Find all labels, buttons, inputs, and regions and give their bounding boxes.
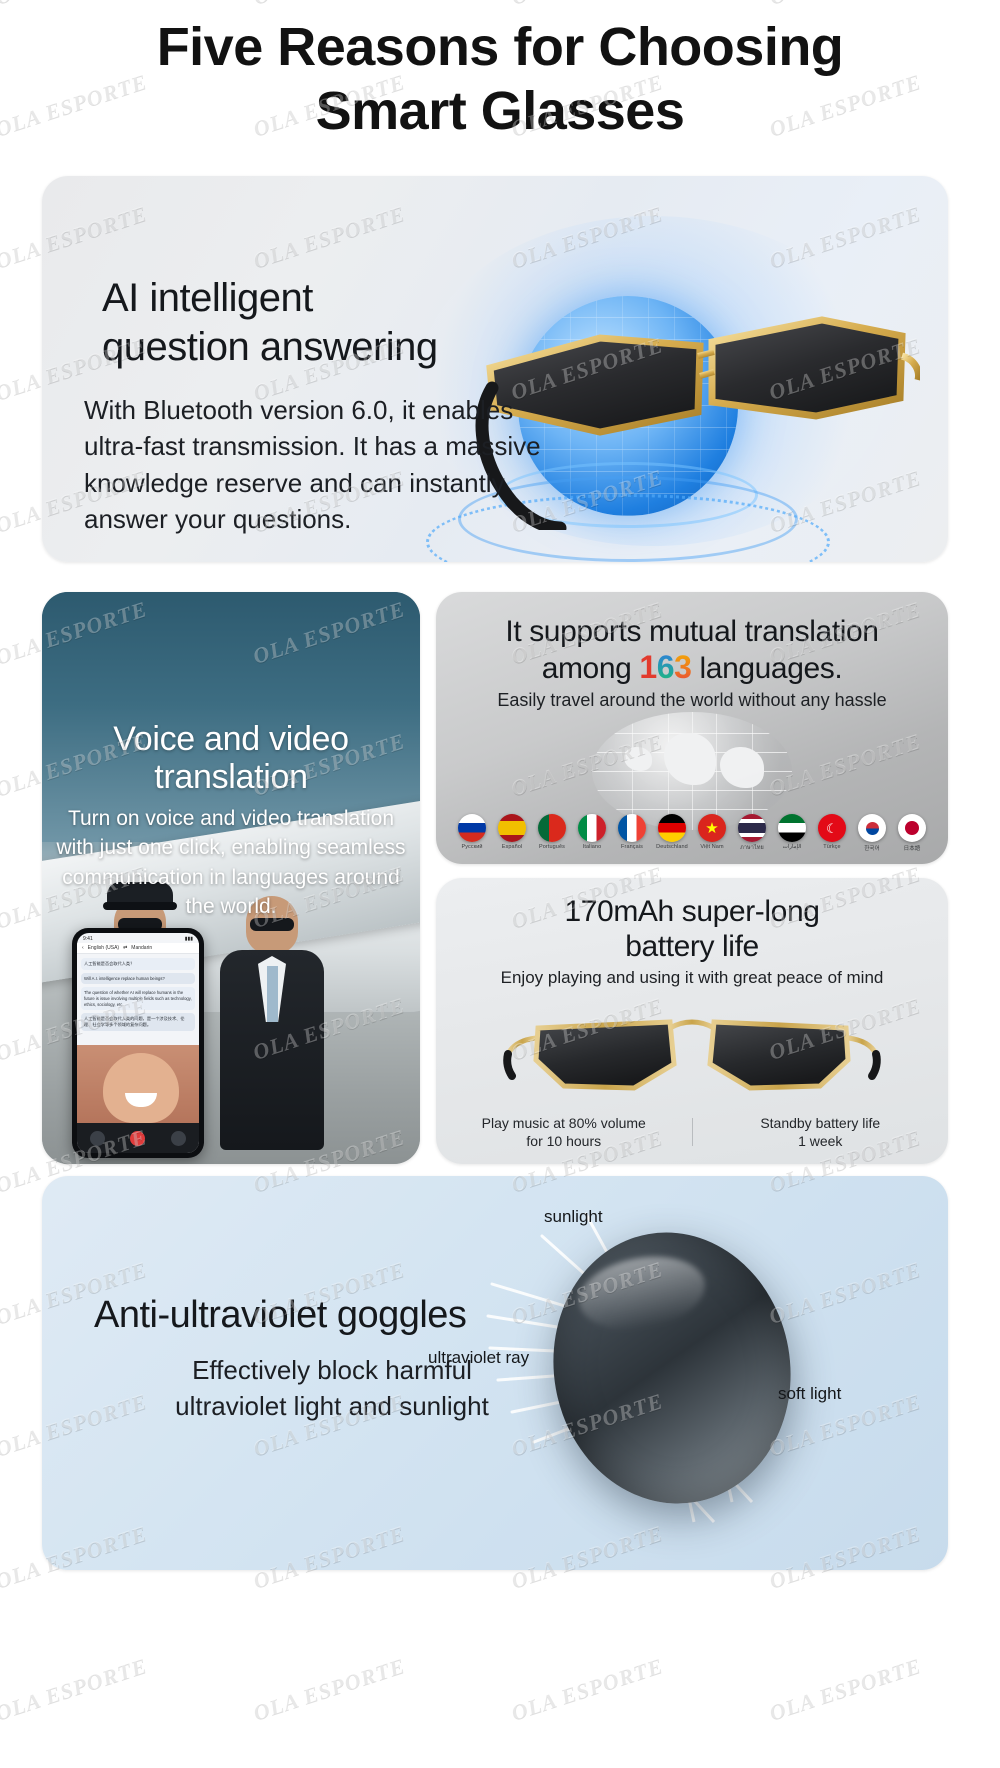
flag-jp-icon xyxy=(898,814,926,842)
flag-item: Français xyxy=(616,814,648,852)
watermark-text: OLA ESPORTE xyxy=(0,1652,150,1726)
flag-label: Deutschland xyxy=(656,844,688,850)
flag-label: Português xyxy=(536,844,568,850)
battery-heading: 170mAh super-long battery life xyxy=(436,894,948,965)
flag-item: 한국어 xyxy=(856,814,888,852)
flag-item: Deutschland xyxy=(656,814,688,852)
watermark-text: OLA ESPORTE xyxy=(766,0,925,10)
phone-language-bar[interactable]: ‹ English (USA) ⇄ Mandarin xyxy=(77,943,199,954)
language-count: 163 xyxy=(639,649,691,685)
swap-icon[interactable]: ⇄ xyxy=(123,945,127,951)
businessman-suit xyxy=(220,950,324,1150)
battery-subtitle: Enjoy playing and using it with great pe… xyxy=(436,968,948,988)
card-anti-ultraviolet: Anti-ultraviolet goggles Effectively blo… xyxy=(42,1176,948,1570)
chat-message: The question of whether AI will replace … xyxy=(81,987,195,1010)
caller-face xyxy=(103,1053,179,1123)
flag-label: Türkçe xyxy=(816,844,848,850)
watermark-text: OLA ESPORTE xyxy=(508,1652,667,1726)
languages-heading-line-1: It supports mutual translation xyxy=(436,614,948,649)
flag-item: ภาษาไทย xyxy=(736,814,768,852)
card-voice-video-translation: 9:41 ▮▮▮ ‹ English (USA) ⇄ Mandarin 人工智能… xyxy=(42,592,420,1164)
ai-body-text: With Bluetooth version 6.0, it enables u… xyxy=(84,392,554,538)
flag-list: Русский Español Português Italiano Franç… xyxy=(436,814,948,852)
chat-message: Will A.I. intelligence replace human bei… xyxy=(81,973,195,985)
watermark-text: OLA ESPORTE xyxy=(0,0,150,10)
call-controls[interactable] xyxy=(77,1123,199,1153)
flag-kr-icon xyxy=(858,814,886,842)
flag-label: 한국어 xyxy=(856,844,888,852)
sunglasses-front-image xyxy=(502,998,882,1108)
card-battery-life: 170mAh super-long battery life Enjoy pla… xyxy=(436,878,948,1164)
flag-item: Español xyxy=(496,814,528,852)
phone-status-bar: 9:41 ▮▮▮ xyxy=(77,933,199,943)
stat-standby-line-1: Standby battery life xyxy=(693,1114,949,1132)
flag-label: Русский xyxy=(456,844,488,850)
languages-subtitle: Easily travel around the world without a… xyxy=(436,690,948,711)
page-title: Five Reasons for Choosing Smart Glasses xyxy=(0,16,1000,143)
flag-label: الإمارات xyxy=(776,844,808,850)
microphone-icon[interactable] xyxy=(90,1131,105,1146)
flag-es-icon xyxy=(498,814,526,842)
flag-item: Português xyxy=(536,814,568,852)
flag-tr-icon: ☾ xyxy=(818,814,846,842)
flag-ru-icon xyxy=(458,814,486,842)
chat-message: 人工智能是否会取代人类？ xyxy=(81,958,195,970)
languages-suffix-label: languages. xyxy=(700,652,843,685)
battery-stat-playback: Play music at 80% volume for 10 hours xyxy=(436,1114,692,1150)
flag-ae-icon xyxy=(778,814,806,842)
translation-body-text: Turn on voice and video translation with… xyxy=(50,804,412,922)
person-businessman xyxy=(220,896,324,1150)
speaker-icon[interactable] xyxy=(171,1131,186,1146)
stat-playback-line-1: Play music at 80% volume xyxy=(436,1114,692,1132)
ai-heading-line-1: AI intelligent xyxy=(102,274,572,323)
flag-item: Italiano xyxy=(576,814,608,852)
card-ai-question-answering: AI AI intelligent question answering Wit… xyxy=(42,176,948,562)
video-call-preview xyxy=(77,1045,199,1123)
phone-chat-list: 人工智能是否会取代人类？ Will A.I. intelligence repl… xyxy=(77,954,199,1038)
language-to-label: Mandarin xyxy=(131,945,152,951)
watermark-text: OLA ESPORTE xyxy=(250,0,409,10)
watermark-text: OLA ESPORTE xyxy=(250,1652,409,1726)
flag-item: Русский xyxy=(456,814,488,852)
flag-label: Español xyxy=(496,844,528,850)
globe-graphic xyxy=(592,712,792,830)
back-chevron-icon[interactable]: ‹ xyxy=(82,945,84,951)
card-163-languages: It supports mutual translation among 163… xyxy=(436,592,948,864)
page-title-line-1: Five Reasons for Choosing xyxy=(0,16,1000,80)
flag-item: 日本語 xyxy=(896,814,928,852)
translation-heading-line-1: Voice and video xyxy=(42,720,420,758)
flag-label: Việt Nam xyxy=(696,844,728,850)
flag-item: الإمارات xyxy=(776,814,808,852)
translation-heading-line-2: translation xyxy=(42,758,420,796)
flag-it-icon xyxy=(578,814,606,842)
watermark-text: OLA ESPORTE xyxy=(766,1652,925,1726)
flag-label: ภาษาไทย xyxy=(736,844,768,852)
flag-label: Italiano xyxy=(576,844,608,850)
flag-label: 日本語 xyxy=(896,844,928,852)
ai-heading: AI intelligent question answering xyxy=(102,274,572,372)
phone-screen: 9:41 ▮▮▮ ‹ English (USA) ⇄ Mandarin 人工智能… xyxy=(77,933,199,1153)
chat-message: 人工智能是否会取代人类的问题，是一个涉及技术、伦理、社会学等多个领域的复杂问题。 xyxy=(81,1013,195,1030)
businessman-tie xyxy=(267,966,278,1022)
language-from-label: English (USA) xyxy=(88,945,119,951)
languages-among-label: among xyxy=(542,652,632,685)
flag-label: Français xyxy=(616,844,648,850)
flag-de-icon xyxy=(658,814,686,842)
flag-th-icon xyxy=(738,814,766,842)
caller-smile xyxy=(125,1093,157,1107)
phone-time: 9:41 xyxy=(83,936,93,942)
end-call-icon[interactable] xyxy=(130,1131,145,1146)
uv-heading: Anti-ultraviolet goggles xyxy=(94,1294,554,1337)
page-title-line-2: Smart Glasses xyxy=(0,80,1000,144)
smartphone-mockup: 9:41 ▮▮▮ ‹ English (USA) ⇄ Mandarin 人工智能… xyxy=(72,928,204,1158)
uv-body-line-2: ultraviolet light and sunlight xyxy=(122,1388,542,1424)
phone-signal-icon: ▮▮▮ xyxy=(185,936,193,942)
battery-heading-line-1: 170mAh super-long xyxy=(436,894,948,929)
flag-item: ☾ Türkçe xyxy=(816,814,848,852)
translation-heading: Voice and video translation xyxy=(42,720,420,796)
stat-standby-line-2: 1 week xyxy=(693,1132,949,1150)
ai-heading-line-2: question answering xyxy=(102,323,572,372)
label-soft-light: soft light xyxy=(778,1384,841,1404)
flag-fr-icon xyxy=(618,814,646,842)
flag-vn-icon: ★ xyxy=(698,814,726,842)
battery-heading-line-2: battery life xyxy=(436,929,948,964)
watermark-text: OLA ESPORTE xyxy=(508,0,667,10)
languages-heading-line-2: among 163 languages. xyxy=(436,649,948,687)
battery-stat-standby: Standby battery life 1 week xyxy=(693,1114,949,1150)
flag-item: ★ Việt Nam xyxy=(696,814,728,852)
label-ultraviolet-ray: ultraviolet ray xyxy=(428,1348,529,1368)
stat-playback-line-2: for 10 hours xyxy=(436,1132,692,1150)
label-sunlight: sunlight xyxy=(544,1207,603,1227)
battery-stats-row: Play music at 80% volume for 10 hours St… xyxy=(436,1114,948,1150)
flag-pt-icon xyxy=(538,814,566,842)
languages-heading: It supports mutual translation among 163… xyxy=(436,614,948,687)
